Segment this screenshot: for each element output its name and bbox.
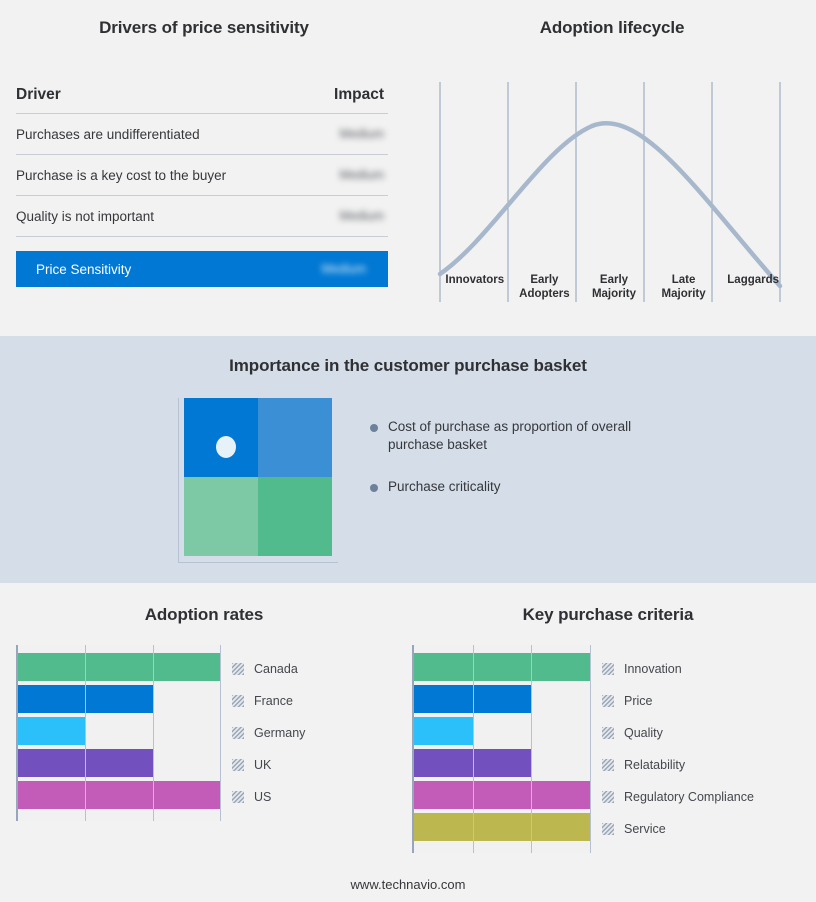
gridline	[531, 645, 532, 853]
position-marker-icon	[216, 436, 236, 458]
bar-innovation[interactable]	[414, 653, 590, 681]
drivers-table: Driver Impact Purchases are undifferenti…	[16, 86, 388, 287]
adoption-rates-bars	[18, 645, 220, 821]
quadrant-grid	[184, 398, 332, 556]
driver-label: Purchase is a key cost to the buyer	[16, 168, 302, 183]
key-criteria-legend: InnovationPriceQualityRelatabilityRegula…	[590, 645, 754, 845]
legend-item[interactable]: Germany	[232, 717, 305, 749]
stage-label-late-majority: Late Majority	[649, 274, 719, 301]
hatched-swatch-icon	[232, 759, 244, 771]
legend-label: France	[254, 694, 293, 708]
impact-value-obscured: Medium	[302, 127, 388, 141]
legend-item[interactable]: Service	[602, 813, 754, 845]
hatched-swatch-icon	[232, 695, 244, 707]
legend-label: Service	[624, 822, 666, 836]
key-criteria-panel: Key purchase criteria InnovationPriceQua…	[400, 583, 816, 902]
bar-service[interactable]	[414, 813, 590, 841]
legend-item[interactable]: Regulatory Compliance	[602, 781, 754, 813]
legend-item[interactable]: France	[232, 685, 305, 717]
legend-label: Innovation	[624, 662, 682, 676]
bar-us[interactable]	[18, 781, 220, 809]
legend-label: Canada	[254, 662, 298, 676]
bar-quality[interactable]	[414, 717, 473, 745]
legend-item[interactable]: Innovation	[602, 653, 754, 685]
legend-item[interactable]: Canada	[232, 653, 305, 685]
impact-value-obscured: Medium	[284, 262, 370, 276]
bullet-icon	[370, 484, 378, 492]
legend-item[interactable]: Relatability	[602, 749, 754, 781]
legend-item: Purchase criticality	[370, 478, 700, 496]
gridline	[153, 645, 154, 821]
footer-url: www.technavio.com	[0, 877, 816, 892]
stage-line-1: Late	[649, 274, 719, 288]
gridline	[220, 645, 221, 821]
hatched-swatch-icon	[602, 663, 614, 675]
legend-item[interactable]: Quality	[602, 717, 754, 749]
column-header-driver: Driver	[16, 86, 302, 104]
gridline	[85, 645, 86, 821]
stage-label-laggards: Laggards	[718, 274, 788, 301]
stage-line-1: Early	[510, 274, 580, 288]
basket-legend: Cost of purchase as proportion of overal…	[370, 418, 700, 520]
drivers-table-header: Driver Impact	[16, 86, 388, 114]
driver-label: Quality is not important	[16, 209, 302, 224]
quadrant-matrix	[178, 398, 338, 563]
table-row-highlighted[interactable]: Price Sensitivity Medium	[16, 251, 388, 287]
quadrant-bottom-right	[258, 477, 332, 556]
key-criteria-title: Key purchase criteria	[400, 605, 816, 625]
gridline	[590, 645, 591, 853]
adoption-rates-title: Adoption rates	[0, 605, 408, 625]
legend-label: Quality	[624, 726, 663, 740]
quadrant-top-right	[258, 398, 332, 477]
quadrant-bottom-left	[184, 477, 258, 556]
adoption-rates-legend: CanadaFranceGermanyUKUS	[220, 645, 305, 813]
column-header-impact: Impact	[302, 86, 388, 104]
hatched-swatch-icon	[232, 791, 244, 803]
basket-panel: Importance in the customer purchase bask…	[0, 336, 816, 583]
adoption-rates-panel: Adoption rates CanadaFranceGermanyUKUS	[0, 583, 408, 902]
bell-curve-path	[440, 123, 780, 286]
legend-item[interactable]: UK	[232, 749, 305, 781]
drivers-panel-title: Drivers of price sensitivity	[0, 18, 408, 38]
lifecycle-chart: Innovators Early Adopters Early Majority…	[432, 78, 792, 310]
hatched-swatch-icon	[602, 727, 614, 739]
hatched-swatch-icon	[602, 791, 614, 803]
legend-item[interactable]: US	[232, 781, 305, 813]
bar-regulatory-compliance[interactable]	[414, 781, 590, 809]
driver-label: Price Sensitivity	[36, 262, 284, 277]
drivers-panel: Drivers of price sensitivity Driver Impa…	[0, 0, 408, 336]
bar-canada[interactable]	[18, 653, 220, 681]
stage-line-2: Innovators	[440, 274, 510, 288]
key-criteria-plot-area	[412, 645, 590, 853]
legend-label: US	[254, 790, 271, 804]
legend-label: Price	[624, 694, 652, 708]
key-criteria-bars	[414, 645, 590, 853]
stage-label-early-majority: Early Majority	[579, 274, 649, 301]
impact-value-obscured: Medium	[302, 168, 388, 182]
lifecycle-panel: Adoption lifecycle Innovators	[408, 0, 816, 336]
key-criteria-chart: InnovationPriceQualityRelatabilityRegula…	[412, 645, 804, 853]
stage-label-innovators: Innovators	[440, 274, 510, 301]
table-row[interactable]: Purchases are undifferentiated Medium	[16, 114, 388, 155]
stage-line-1: Early	[579, 274, 649, 288]
hatched-swatch-icon	[232, 727, 244, 739]
impact-value-obscured: Medium	[302, 209, 388, 223]
stage-line-2: Adopters	[510, 288, 580, 302]
hatched-swatch-icon	[602, 823, 614, 835]
stage-line-2: Majority	[579, 288, 649, 302]
gridline	[473, 645, 474, 853]
legend-label: Cost of purchase as proportion of overal…	[388, 418, 650, 454]
legend-label: Regulatory Compliance	[624, 790, 754, 804]
table-row[interactable]: Purchase is a key cost to the buyer Medi…	[16, 155, 388, 196]
bullet-icon	[370, 424, 378, 432]
basket-panel-title: Importance in the customer purchase bask…	[0, 356, 816, 376]
stage-line-2: Majority	[649, 288, 719, 302]
legend-label: Relatability	[624, 758, 685, 772]
hatched-swatch-icon	[602, 759, 614, 771]
stage-line-2: Laggards	[718, 274, 788, 288]
driver-label: Purchases are undifferentiated	[16, 127, 302, 142]
lifecycle-gridlines	[440, 82, 780, 302]
legend-label: Purchase criticality	[388, 478, 501, 496]
legend-item[interactable]: Price	[602, 685, 754, 717]
bar-germany[interactable]	[18, 717, 85, 745]
hatched-swatch-icon	[602, 695, 614, 707]
legend-label: Germany	[254, 726, 305, 740]
table-row[interactable]: Quality is not important Medium	[16, 196, 388, 237]
legend-label: UK	[254, 758, 271, 772]
adoption-rates-plot-area	[16, 645, 220, 821]
legend-item: Cost of purchase as proportion of overal…	[370, 418, 700, 454]
adoption-rates-chart: CanadaFranceGermanyUKUS	[16, 645, 396, 821]
infographic-page: Drivers of price sensitivity Driver Impa…	[0, 0, 816, 902]
hatched-swatch-icon	[232, 663, 244, 675]
lifecycle-panel-title: Adoption lifecycle	[408, 18, 816, 38]
lifecycle-stage-labels: Innovators Early Adopters Early Majority…	[440, 274, 788, 301]
stage-label-early-adopters: Early Adopters	[510, 274, 580, 301]
